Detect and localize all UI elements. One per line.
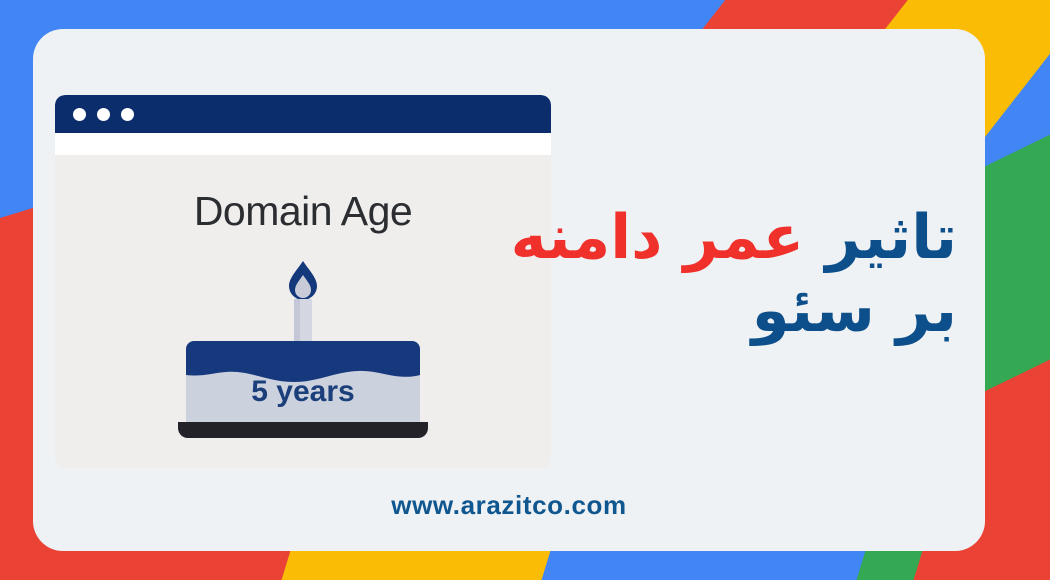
headline-line-1: تاثیر عمر دامنه <box>467 204 957 271</box>
window-dot-maximize-icon <box>121 108 134 121</box>
browser-address-bar[interactable] <box>55 133 551 155</box>
headline: تاثیر عمر دامنه بر سئو <box>467 204 957 344</box>
birthday-cake-illustration: 5 years <box>168 259 438 449</box>
content-card: Domain Age <box>33 29 985 551</box>
site-url[interactable]: www.arazitco.com <box>33 490 985 521</box>
window-dot-minimize-icon <box>97 108 110 121</box>
window-dot-close-icon <box>73 108 86 121</box>
headline-word-omr-damane: عمر دامنه <box>511 202 805 273</box>
headline-line-2: بر سئو <box>467 277 957 344</box>
cake-age-label: 5 years <box>251 375 354 408</box>
browser-titlebar <box>55 95 551 133</box>
cake-plate <box>178 422 428 438</box>
poster-canvas: Domain Age <box>0 0 1050 580</box>
headline-word-tasir: تاثیر <box>825 202 957 273</box>
